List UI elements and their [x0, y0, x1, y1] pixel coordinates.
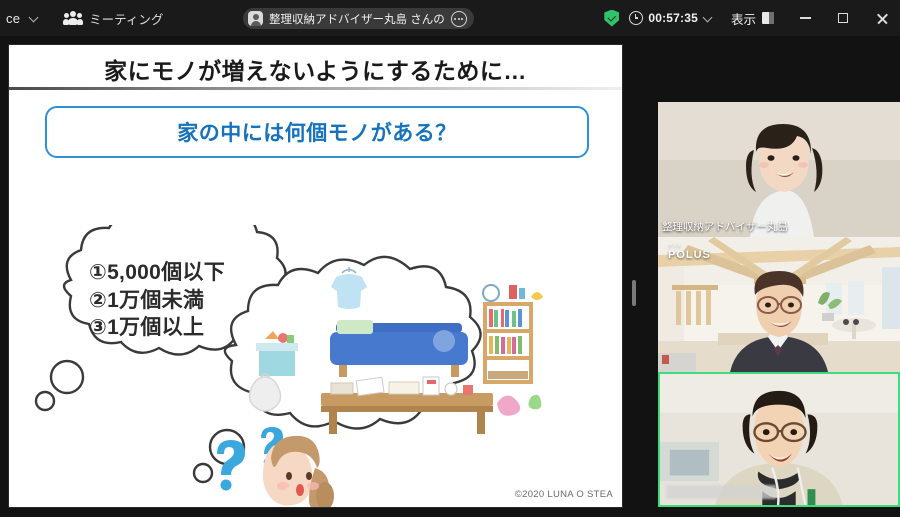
person-avatar-icon [248, 11, 263, 26]
meeting-window: ce ミーティング 整理収納アドバイザー丸島 さんの 00:57:35 表示 [0, 0, 900, 517]
thinking-woman-illustration [205, 420, 345, 508]
participant-video-panel: 整理収納アドバイザー丸島 [658, 102, 900, 507]
workspace-name[interactable]: ce [6, 11, 20, 26]
shared-screen-area[interactable]: 家にモノが増えないようにするために… 家の中には何個モノがある？ [8, 44, 623, 508]
answer-option: ②1万個未満 [89, 287, 225, 315]
minimize-button[interactable] [786, 0, 824, 36]
more-options-icon[interactable] [451, 11, 467, 27]
people-icon [64, 11, 82, 25]
layout-grid-icon [762, 12, 774, 24]
chevron-down-icon[interactable] [29, 12, 41, 24]
screen-share-pill[interactable]: 整理収納アドバイザー丸島 さんの [243, 8, 474, 29]
video-tile[interactable]: ポラス POLUS [658, 237, 900, 372]
panel-divider[interactable] [626, 36, 642, 517]
restore-button[interactable] [824, 0, 862, 36]
video-tile[interactable]: 整理収納アドバイザー丸島 [658, 102, 900, 237]
question-box: 家の中には何個モノがある？ [45, 106, 589, 158]
clock-icon [629, 11, 643, 25]
slide-copyright: ©2020 LUNA O STEA [515, 489, 613, 500]
answer-option: ①5,000個以下 [89, 259, 225, 287]
close-button[interactable] [862, 0, 900, 36]
meeting-label: ミーティング [89, 9, 163, 28]
meeting-timer: 00:57:35 [648, 11, 698, 25]
view-button-label: 表示 [731, 9, 756, 28]
meeting-tab[interactable]: ミーティング [64, 9, 163, 28]
title-divider-rule [9, 87, 622, 90]
share-pill-text: 整理収納アドバイザー丸島 さんの [269, 11, 445, 27]
shield-check-icon[interactable] [604, 10, 619, 27]
title-bar: ce ミーティング 整理収納アドバイザー丸島 さんの 00:57:35 表示 [0, 0, 900, 36]
divider-drag-handle[interactable] [632, 280, 636, 306]
polus-watermark-text: POLUS [668, 249, 711, 261]
presentation-slide: 家にモノが増えないようにするために… 家の中には何個モノがある？ [9, 45, 622, 507]
slide-title: 家にモノが増えないようにするために… [9, 52, 622, 86]
answer-options: ①5,000個以下 ②1万個未満 ③1万個以上 [89, 259, 225, 342]
titlebar-right-group: 00:57:35 表示 [604, 0, 900, 36]
video-feed-1 [658, 102, 900, 237]
titlebar-left-group: ce ミーティング [0, 9, 163, 28]
participant-name-label: 整理収納アドバイザー丸島 [662, 219, 788, 234]
meeting-stage: 家にモノが増えないようにするために… 家の中には何個モノがある？ [0, 36, 900, 517]
video-tile-active-speaker[interactable] [658, 372, 900, 507]
polus-watermark: ポラス POLUS [668, 243, 711, 261]
window-controls [786, 0, 900, 36]
answer-option: ③1万個以上 [89, 314, 225, 342]
polus-watermark-sub: ポラス [668, 243, 711, 249]
name-label-blur [666, 485, 776, 499]
timer-chevron-down-icon[interactable] [703, 12, 715, 24]
question-box-text: 家の中には何個モノがある？ [177, 117, 457, 147]
view-button[interactable]: 表示 [731, 9, 774, 28]
